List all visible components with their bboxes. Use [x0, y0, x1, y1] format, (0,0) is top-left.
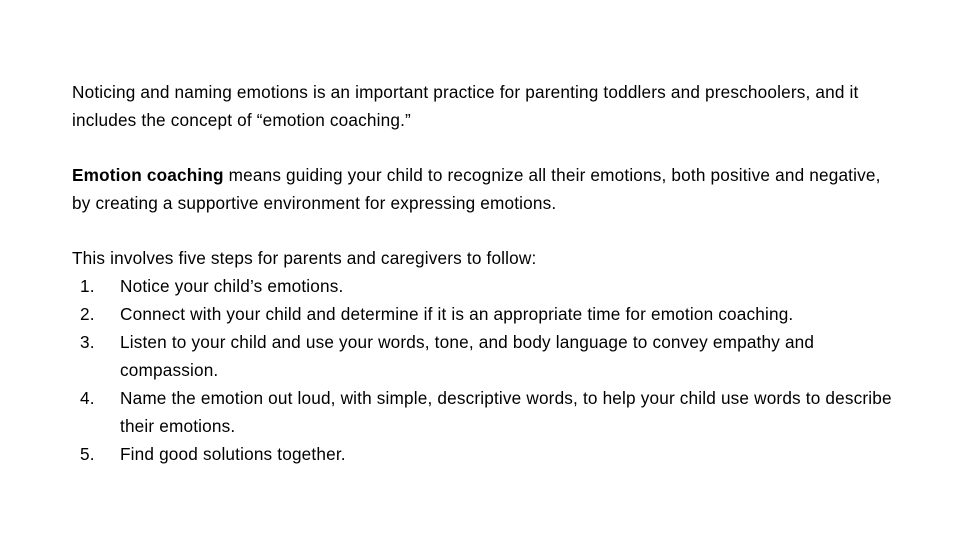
list-item: 1. Notice your child’s emotions. — [72, 272, 902, 300]
list-item-marker: 4. — [80, 384, 106, 412]
list-item-marker: 5. — [80, 440, 106, 468]
intro-paragraph: Noticing and naming emotions is an impor… — [72, 78, 902, 134]
list-item-text: Connect with your child and determine if… — [120, 304, 793, 324]
list-lead-in-paragraph: This involves five steps for parents and… — [72, 244, 902, 272]
list-item-marker: 3. — [80, 328, 106, 356]
list-item: 2. Connect with your child and determine… — [72, 300, 902, 328]
list-item-text: Listen to your child and use your words,… — [120, 332, 814, 380]
list-item-text: Notice your child’s emotions. — [120, 276, 343, 296]
definition-paragraph: Emotion coaching means guiding your chil… — [72, 161, 902, 217]
slide-canvas: Noticing and naming emotions is an impor… — [0, 0, 960, 540]
list-item: 3. Listen to your child and use your wor… — [72, 328, 902, 384]
list-item: 4. Name the emotion out loud, with simpl… — [72, 384, 902, 440]
list-item-marker: 2. — [80, 300, 106, 328]
slide-content-body: Noticing and naming emotions is an impor… — [72, 78, 902, 468]
list-item-text: Find good solutions together. — [120, 444, 346, 464]
list-item-text: Name the emotion out loud, with simple, … — [120, 388, 892, 436]
emotion-coaching-steps-list: 1. Notice your child’s emotions. 2. Conn… — [72, 272, 902, 468]
list-item-marker: 1. — [80, 272, 106, 300]
list-item: 5. Find good solutions together. — [72, 440, 902, 468]
definition-term: Emotion coaching — [72, 165, 224, 185]
